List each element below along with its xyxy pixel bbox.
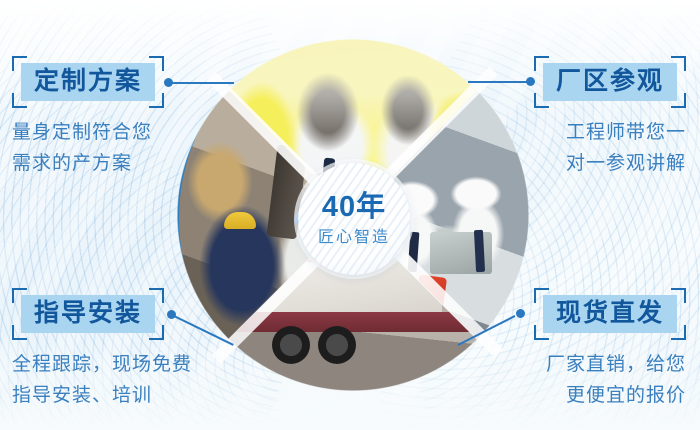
- feature-title-wrap-top-right: 厂区参观: [534, 56, 686, 108]
- corner-bracket-icon-bl: [12, 325, 27, 340]
- center-years: 40年: [322, 193, 386, 222]
- feature-desc-line1-bottom-left: 全程跟踪，现场免费: [12, 350, 192, 381]
- feature-desc-line1-top-right: 工程师带您一: [534, 118, 686, 149]
- corner-bracket-icon-tl: [12, 56, 27, 71]
- corner-bracket-icon-br: [149, 325, 164, 340]
- feature-title-top-left: 定制方案: [21, 63, 155, 101]
- feature-desc-line2-bottom-left: 指导安装、培训: [12, 381, 192, 412]
- corner-bracket-icon-tr: [149, 56, 164, 71]
- feature-desc-top-right: 工程师带您一 对一参观讲解: [534, 118, 686, 180]
- yellow-helmet-shape-left: [224, 212, 256, 229]
- corner-bracket-icon-bl: [12, 93, 27, 108]
- feature-desc-bottom-right: 厂家直销，给您 更便宜的报价: [534, 350, 686, 412]
- center-badge: 40年 匠心智造: [298, 163, 410, 275]
- feature-title-wrap-bottom-left: 指导安装: [12, 288, 164, 340]
- truck-bed-shape: [222, 312, 488, 332]
- feature-desc-line2-top-right: 对一参观讲解: [534, 149, 686, 180]
- feature-desc-line2-bottom-right: 更便宜的报价: [534, 381, 686, 412]
- infographic-root: 40年 匠心智造 定制方案 量身定制符合您 需求的产方案: [0, 0, 700, 430]
- feature-bottom-left: 指导安装 全程跟踪，现场免费 指导安装、培训: [12, 288, 192, 412]
- feature-top-right: 厂区参观 工程师带您一 对一参观讲解: [534, 56, 686, 180]
- corner-bracket-icon-tr: [671, 288, 686, 303]
- corner-bracket-icon-tr: [671, 56, 686, 71]
- corner-bracket-icon-bl: [534, 325, 549, 340]
- corner-bracket-icon-tl: [534, 288, 549, 303]
- feature-title-wrap-top-left: 定制方案: [12, 56, 164, 108]
- corner-bracket-icon-tl: [12, 288, 27, 303]
- corner-bracket-icon-bl: [534, 93, 549, 108]
- corner-bracket-icon-br: [671, 93, 686, 108]
- truck-wheel-a: [272, 326, 310, 364]
- corner-bracket-icon-br: [671, 325, 686, 340]
- corner-bracket-icon-tr: [149, 288, 164, 303]
- feature-bottom-right: 现货直发 厂家直销，给您 更便宜的报价: [534, 288, 686, 412]
- feature-title-top-right: 厂区参观: [543, 63, 677, 101]
- feature-title-bottom-left: 指导安装: [21, 295, 155, 333]
- feature-title-bottom-right: 现货直发: [543, 295, 677, 333]
- connector-dot-top-left: [164, 78, 173, 87]
- feature-title-wrap-bottom-right: 现货直发: [534, 288, 686, 340]
- feature-desc-bottom-left: 全程跟踪，现场免费 指导安装、培训: [12, 350, 192, 412]
- feature-desc-line1-bottom-right: 厂家直销，给您: [534, 350, 686, 381]
- truck-wheel-b: [318, 326, 356, 364]
- feature-desc-line1-top-left: 量身定制符合您: [12, 118, 164, 149]
- feature-desc-line2-top-left: 需求的产方案: [12, 149, 164, 180]
- corner-bracket-icon-tl: [534, 56, 549, 71]
- feature-top-left: 定制方案 量身定制符合您 需求的产方案: [12, 56, 164, 180]
- corner-bracket-icon-br: [149, 93, 164, 108]
- feature-desc-top-left: 量身定制符合您 需求的产方案: [12, 118, 164, 180]
- center-slogan: 匠心智造: [318, 230, 390, 246]
